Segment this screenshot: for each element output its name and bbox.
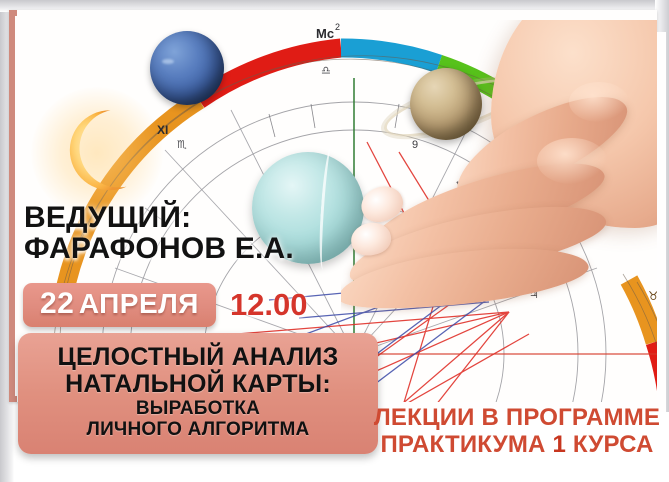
hand-knuckle-2 (569, 82, 629, 122)
promo-line-2-before: ПРАКТИКУМА (380, 431, 552, 458)
event-datetime-block: 22 АПРЕЛЯ 12.00 (23, 283, 308, 327)
svg-text:♎: ♎ (321, 64, 331, 77)
promo-line-1: ЛЕКЦИИ В ПРОГРАММЕ (369, 404, 665, 431)
event-time: 12.00 (230, 287, 308, 323)
moon-glow (31, 87, 163, 219)
host-label: ВЕДУЩИЙ: (24, 203, 334, 234)
promo-line-2: ПРАКТИКУМА 1 КУРСА (369, 431, 665, 458)
host-block: ВЕДУЩИЙ: ФАРАФОНОВ Е.А. (24, 203, 334, 264)
topic-line-4: ЛИЧНОГО АЛГОРИТМА (28, 419, 368, 440)
host-name: ФАРАФОНОВ Е.А. (24, 234, 334, 265)
moon-crescent-icon (49, 105, 145, 201)
topic-line-1: ЦЕЛОСТНЫЙ АНАЛИЗ (28, 344, 368, 371)
chart-label-mc-superscript: 2 (335, 22, 340, 32)
svg-text:♏: ♏ (177, 138, 187, 151)
event-month: АПРЕЛЯ (79, 288, 199, 319)
hand-photo (341, 20, 657, 320)
event-day: 22 (40, 287, 74, 320)
promo-line-2-after: КУРСА (566, 431, 654, 458)
promo-course-number: 1 (552, 431, 566, 458)
chart-label-mc: Mc (316, 26, 334, 41)
promo-block: ЛЕКЦИИ В ПРОГРАММЕ ПРАКТИКУМА 1 КУРСА (369, 404, 665, 458)
poster-canvas: ♎ ♏ ♓ ♒ ♃ ♄ ♈ ♉ ♇ ♆ ♉ Mc 2 XI 9 (0, 0, 669, 482)
topic-box: ЦЕЛОСТНЫЙ АНАЛИЗ НАТАЛЬНОЙ КАРТЫ: ВЫРАБО… (18, 333, 378, 454)
hand-knuckle-1 (537, 138, 607, 184)
topic-line-2: НАТАЛЬНОЙ КАРТЫ: (28, 371, 368, 398)
neptune-sheen (162, 59, 174, 64)
planet-neptune (150, 31, 224, 105)
event-date-pill: 22 АПРЕЛЯ (23, 283, 216, 327)
topic-line-3: ВЫРАБОТКА (28, 398, 368, 419)
